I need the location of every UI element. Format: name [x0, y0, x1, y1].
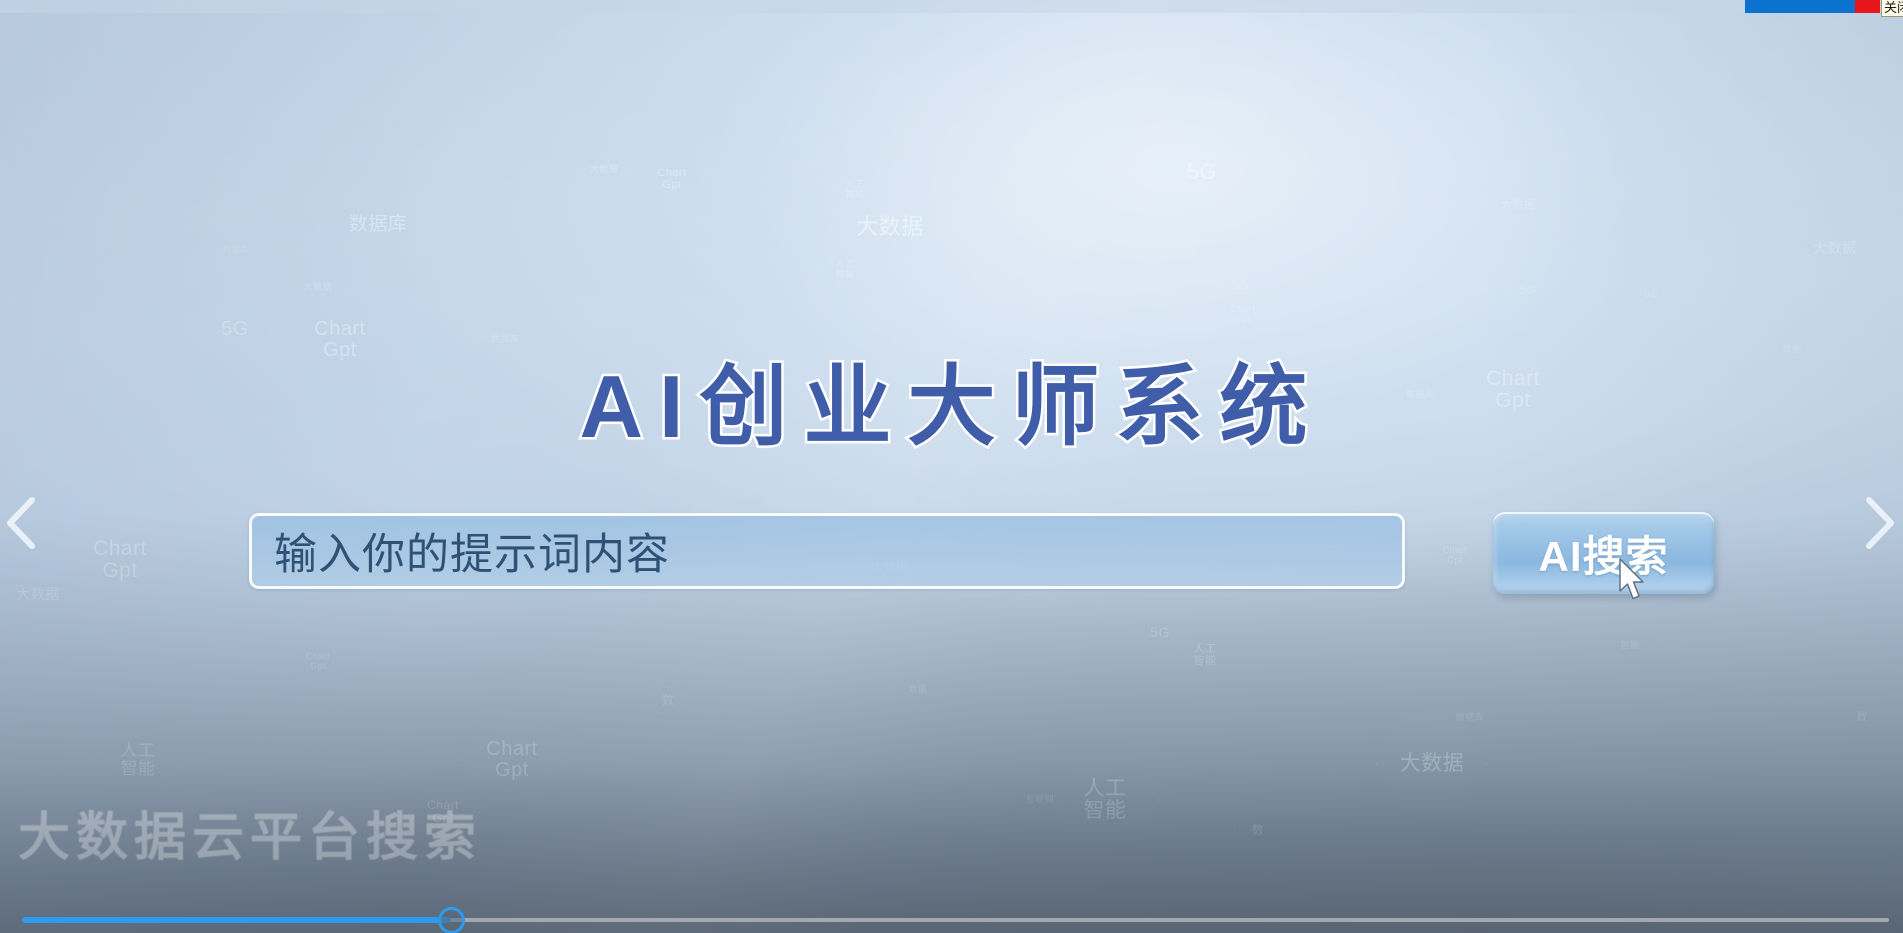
background-vignette — [0, 0, 1903, 933]
carousel-prev-arrow[interactable] — [2, 492, 44, 554]
bottom-progress-slider[interactable] — [22, 917, 1889, 923]
app-screen: 数据库大数据Chart Gpt人工 智能大数据人工 智能5G5GChart Gp… — [0, 0, 1903, 933]
top-blue-bar — [1745, 0, 1855, 13]
slider-fill — [22, 917, 451, 923]
carousel-next-arrow[interactable] — [1857, 492, 1899, 554]
ai-search-button[interactable]: AI搜索 — [1493, 512, 1714, 594]
slider-handle[interactable] — [438, 907, 465, 933]
top-edge-strip — [0, 0, 1903, 13]
close-tooltip: 关闭 — [1881, 0, 1903, 17]
prompt-search-input[interactable]: 输入你的提示词内容 — [249, 513, 1405, 589]
top-red-block[interactable] — [1855, 0, 1880, 13]
prompt-search-placeholder: 输入你的提示词内容 — [252, 520, 670, 582]
ai-search-button-label: AI搜索 — [1538, 523, 1668, 584]
page-title: AI创业大师系统 — [0, 336, 1903, 463]
